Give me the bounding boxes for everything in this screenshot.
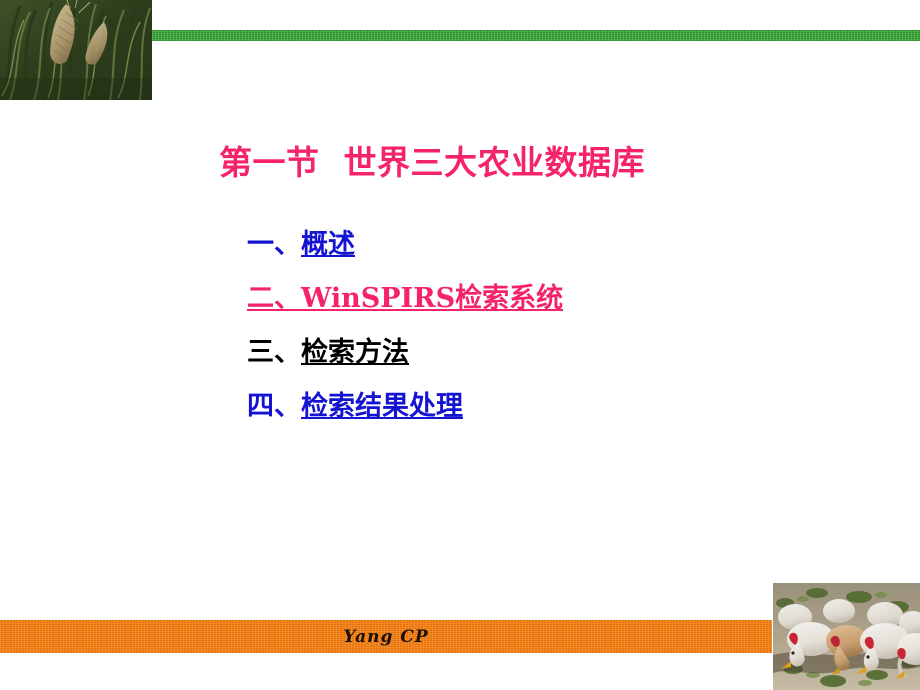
- presentation-slide: 第一节 世界三大农业数据库 一、概述 二、WinSPIRS检索系统 三、检索方法…: [0, 0, 920, 690]
- outline-item-2-number: 二、: [247, 283, 301, 314]
- outline-item-4-link[interactable]: 检索结果处理: [301, 391, 463, 422]
- outline-item-1-number: 一、: [247, 229, 301, 260]
- wheat-field-illustration: [0, 0, 152, 100]
- outline-item-3-link[interactable]: 检索方法: [301, 337, 409, 368]
- green-bar-texture: [152, 30, 920, 41]
- white-chickens-illustration: [773, 583, 920, 690]
- outline-item-4[interactable]: 四、检索结果处理: [247, 393, 847, 420]
- orange-bar-texture: [0, 620, 772, 653]
- outline-list: 一、概述 二、WinSPIRS检索系统 三、检索方法 四、检索结果处理: [247, 231, 847, 447]
- wheat-field-photo: [0, 0, 152, 100]
- white-chickens-photo: [773, 583, 920, 690]
- outline-item-1-link[interactable]: 概述: [301, 229, 355, 260]
- outline-item-3[interactable]: 三、检索方法: [247, 339, 847, 366]
- outline-item-4-number: 四、: [247, 391, 301, 422]
- outline-item-1[interactable]: 一、概述: [247, 231, 847, 258]
- green-divider-bar: [152, 30, 920, 41]
- outline-item-3-number: 三、: [247, 337, 301, 368]
- outline-item-2[interactable]: 二、WinSPIRS检索系统: [247, 285, 847, 312]
- orange-footer-bar: [0, 620, 772, 653]
- outline-item-2-link[interactable]: WinSPIRS检索系统: [301, 283, 563, 314]
- page-title: 第一节 世界三大农业数据库: [219, 144, 645, 183]
